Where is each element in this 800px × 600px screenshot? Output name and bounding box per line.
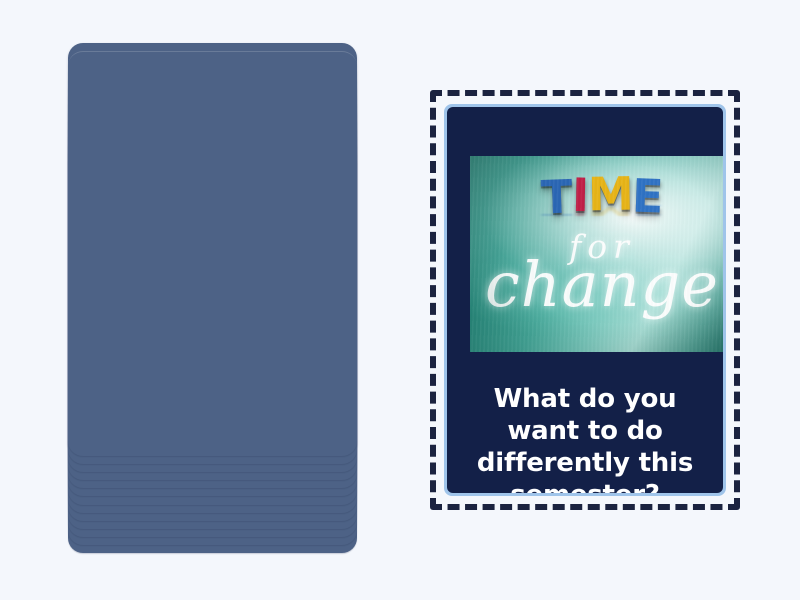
time-word-blocks: TIME xyxy=(470,172,723,218)
time-letter-m: M xyxy=(587,171,633,218)
flashcard-dashed-frame[interactable]: TIME TIME for change What do you want to… xyxy=(430,90,740,510)
flashcard-caption: What do you want to do differently this … xyxy=(461,383,709,493)
chalkboard-surface: TIME TIME for change xyxy=(470,156,723,352)
flashcard-front[interactable]: TIME TIME for change What do you want to… xyxy=(447,107,723,493)
time-letter-e: E xyxy=(632,172,664,219)
time-letter-t: T xyxy=(540,173,572,220)
slide-canvas: TIME TIME for change What do you want to… xyxy=(0,0,800,600)
deck-layer xyxy=(68,51,357,456)
time-letter-i: I xyxy=(571,172,588,218)
card-deck-stack[interactable] xyxy=(68,43,357,553)
flashcard-image: TIME TIME for change xyxy=(470,156,723,352)
chalk-word-change: change xyxy=(470,254,723,316)
flashcard-inner-ring: TIME TIME for change What do you want to… xyxy=(444,104,726,496)
